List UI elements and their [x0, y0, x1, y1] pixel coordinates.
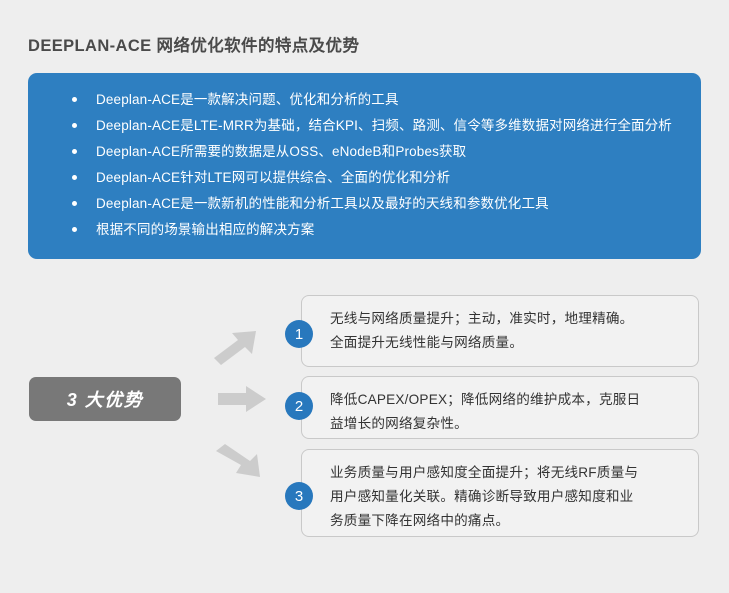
feature-text: 根据不同的场景输出相应的解决方案 [96, 217, 314, 243]
advantage-box: 无线与网络质量提升；主动，准实时，地理精确。 全面提升无线性能与网络质量。 [301, 295, 699, 367]
arrow-up-right-icon [212, 328, 268, 368]
advantage-number-badge: 1 [285, 320, 313, 348]
list-item: Deeplan-ACE所需要的数据是从OSS、eNodeB和Probes获取 [28, 139, 701, 165]
bullet-dot-icon [72, 97, 77, 102]
list-item: 根据不同的场景输出相应的解决方案 [28, 217, 701, 243]
bullet-dot-icon [72, 201, 77, 206]
arrow-down-right-icon [214, 441, 270, 481]
advantage-number-badge: 3 [285, 482, 313, 510]
advantage-text-line: 无线与网络质量提升；主动，准实时，地理精确。 [330, 307, 682, 331]
advantage-text-line: 降低CAPEX/OPEX；降低网络的维护成本，克服日 [330, 388, 682, 412]
bullet-dot-icon [72, 149, 77, 154]
advantages-pill-label: 3 大优势 [67, 386, 144, 412]
list-item: Deeplan-ACE是一款新机的性能和分析工具以及最好的天线和参数优化工具 [28, 191, 701, 217]
bullet-dot-icon [72, 227, 77, 232]
feature-text: Deeplan-ACE是LTE-MRR为基础，结合KPI、扫频、路测、信令等多维… [96, 113, 672, 139]
advantage-text-line: 全面提升无线性能与网络质量。 [330, 331, 682, 355]
advantage-text-line: 益增长的网络复杂性。 [330, 412, 682, 436]
advantages-pill: 3 大优势 [29, 377, 181, 421]
bullet-dot-icon [72, 175, 77, 180]
advantage-box: 业务质量与用户感知度全面提升；将无线RF质量与 用户感知量化关联。精确诊断导致用… [301, 449, 699, 537]
list-item: Deeplan-ACE针对LTE网可以提供综合、全面的优化和分析 [28, 165, 701, 191]
bullet-dot-icon [72, 123, 77, 128]
advantage-text-line: 用户感知量化关联。精确诊断导致用户感知度和业 [330, 485, 682, 509]
advantage-text-line: 业务质量与用户感知度全面提升；将无线RF质量与 [330, 461, 682, 485]
arrow-right-icon [216, 384, 272, 424]
feature-list: Deeplan-ACE是一款解决问题、优化和分析的工具 Deeplan-ACE是… [28, 87, 701, 243]
feature-text: Deeplan-ACE是一款解决问题、优化和分析的工具 [96, 87, 399, 113]
advantage-box: 降低CAPEX/OPEX；降低网络的维护成本，克服日 益增长的网络复杂性。 [301, 376, 699, 439]
advantage-number-badge: 2 [285, 392, 313, 420]
feature-text: Deeplan-ACE针对LTE网可以提供综合、全面的优化和分析 [96, 165, 450, 191]
feature-panel: Deeplan-ACE是一款解决问题、优化和分析的工具 Deeplan-ACE是… [28, 73, 701, 259]
list-item: Deeplan-ACE是一款解决问题、优化和分析的工具 [28, 87, 701, 113]
feature-text: Deeplan-ACE是一款新机的性能和分析工具以及最好的天线和参数优化工具 [96, 191, 549, 217]
advantage-text-line: 务质量下降在网络中的痛点。 [330, 509, 682, 533]
page-title: DEEPLAN-ACE 网络优化软件的特点及优势 [28, 32, 359, 56]
feature-text: Deeplan-ACE所需要的数据是从OSS、eNodeB和Probes获取 [96, 139, 466, 165]
list-item: Deeplan-ACE是LTE-MRR为基础，结合KPI、扫频、路测、信令等多维… [28, 113, 701, 139]
